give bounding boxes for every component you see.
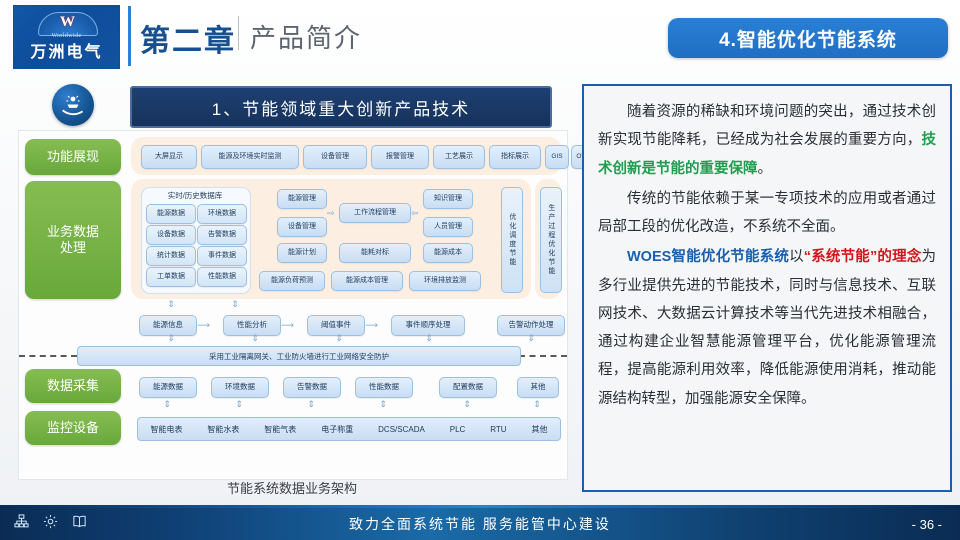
arrow-up-icon-1: ⇕ (231, 299, 239, 310)
acq-box-3[interactable]: 性能数据 (355, 377, 413, 398)
topic-badge: 4.智能优化节能系统 (668, 18, 948, 58)
device-1[interactable]: 智能水表 (207, 424, 239, 435)
db-cell-3[interactable]: 告警数据 (197, 225, 247, 245)
architecture-diagram: 功能展现 业务数据处理 数据采集 监控设备 大屏显示 能源及环境实时监测 设备管… (18, 130, 568, 480)
layer-label-1: 业务数据处理 (25, 181, 121, 299)
presentation-box-1[interactable]: 能源及环境实时监测 (201, 145, 299, 169)
arrow-sec-icon-3: ⇕ (425, 333, 433, 344)
flow-arrow-1-icon: ⟶ (281, 320, 305, 328)
device-0[interactable]: 智能电表 (150, 424, 182, 435)
security-dash-left (19, 355, 77, 357)
mgmt-row3-1[interactable]: 能源成本管理 (331, 271, 403, 291)
arrow-acq-icon-1: ⇕ (235, 399, 243, 410)
acq-box-1[interactable]: 环境数据 (211, 377, 269, 398)
mgmt-workflow[interactable]: 工作流程管理 (339, 203, 411, 223)
device-5[interactable]: PLC (450, 425, 466, 434)
device-2[interactable]: 智能气表 (264, 424, 296, 435)
section-title: 1、节能领域重大创新产品技术 (52, 84, 552, 126)
header-separator (238, 16, 239, 50)
topic-badge-label: 4.智能优化节能系统 (719, 25, 897, 52)
presentation-box-3[interactable]: 报警管理 (371, 145, 429, 169)
section-title-label: 1、节能领域重大创新产品技术 (212, 95, 470, 120)
vertical-box-1[interactable]: 生产过程优化节能 (540, 187, 562, 293)
chapter-subtitle: 产品简介 (250, 18, 362, 55)
p3-text-b: 为多行业提供先进的节能技术，同时与信息技术、互联网技术、大数据云计算技术等当代先… (598, 249, 936, 406)
mgmt-row2-1[interactable]: 能耗对标 (339, 243, 411, 263)
vertical-box-0[interactable]: 优化调度节能 (501, 187, 523, 293)
mgmt-row2-0[interactable]: 能源计划 (277, 243, 327, 263)
presentation-box-2[interactable]: 设备管理 (303, 145, 367, 169)
device-7[interactable]: 其他 (531, 424, 547, 435)
flow-arrow-0-icon: ⟶ (197, 320, 221, 328)
header-divider (128, 6, 131, 66)
mgmt-row3-2[interactable]: 环境排放监测 (409, 271, 481, 291)
db-cell-5[interactable]: 事件数据 (197, 246, 247, 266)
slide-header: W Worldwide 万洲电气 第二章 产品简介 4.智能优化节能系统 (0, 0, 960, 76)
p1-text-b: 。 (758, 161, 773, 177)
device-4[interactable]: DCS/SCADA (378, 425, 425, 434)
arrow-acq-icon-5: ⇕ (533, 399, 541, 410)
arrow-sec-icon-0: ⇕ (167, 333, 175, 344)
mgmt-energy[interactable]: 能源管理 (277, 189, 327, 209)
db-cell-4[interactable]: 统计数据 (146, 246, 196, 266)
mgmt-personnel[interactable]: 人员管理 (423, 217, 473, 237)
company-logo: W Worldwide 万洲电气 (14, 6, 119, 68)
mgmt-equipment[interactable]: 设备管理 (277, 217, 327, 237)
chapter-title: 第二章 (140, 16, 236, 60)
section-title-bar: 1、节能领域重大创新产品技术 (130, 86, 552, 128)
db-cell-0[interactable]: 能源数据 (146, 204, 196, 224)
flow-arrow-2-icon: ⟶ (365, 320, 389, 328)
db-cell-6[interactable]: 工单数据 (146, 267, 196, 287)
db-cell-1[interactable]: 环境数据 (197, 204, 247, 224)
mgmt-row3-0[interactable]: 能源负荷预测 (259, 271, 325, 291)
logo-mark-letter: W (39, 14, 97, 31)
acq-box-5[interactable]: 其他 (517, 377, 559, 398)
security-bar: 采用工业隔离网关、工业防火墙进行工业网络安全防护 (77, 346, 521, 366)
arrow-right-icon: ⇨ (327, 208, 339, 216)
acq-box-2[interactable]: 告警数据 (283, 377, 341, 398)
description-panel: 随着资源的稀缺和环境问题的突出，通过技术创新实现节能降耗，已经成为社会发展的重要… (582, 84, 952, 492)
arrow-sec-icon-4: ⇕ (527, 333, 535, 344)
arrow-sec-icon-1: ⇕ (251, 333, 259, 344)
panel-paragraph-2: 传统的节能依赖于某一专项技术的应用或者通过局部工段的优化改造，不系统不全面。 (598, 185, 936, 242)
panel-paragraph-1: 随着资源的稀缺和环境问题的突出，通过技术创新实现节能降耗，已经成为社会发展的重要… (598, 98, 936, 183)
page-number: - 36 - (912, 508, 942, 540)
footer-slogan: 致力全面系统节能 服务能管中心建设 (0, 508, 960, 540)
p1-text-a: 随着资源的稀缺和环境问题的突出，通过技术创新实现节能降耗，已经成为社会发展的重要… (598, 104, 936, 148)
p3-text-a: 以 (789, 249, 804, 265)
presentation-box-0[interactable]: 大屏显示 (141, 145, 197, 169)
db-cell-2[interactable]: 设备数据 (146, 225, 196, 245)
logo-company-name: 万洲电气 (14, 38, 119, 62)
presentation-box-6[interactable]: GIS (545, 145, 569, 169)
arrow-acq-icon-0: ⇕ (163, 399, 171, 410)
acq-box-0[interactable]: 能源数据 (139, 377, 197, 398)
device-6[interactable]: RTU (490, 425, 506, 434)
layer-label-3: 监控设备 (25, 411, 121, 445)
arrow-acq-icon-3: ⇕ (379, 399, 387, 410)
slide: W Worldwide 万洲电气 第二章 产品简介 4.智能优化节能系统 (0, 0, 960, 540)
acq-box-4[interactable]: 配置数据 (439, 377, 497, 398)
database-title: 实时/历史数据库 (141, 190, 249, 201)
arrow-sec-icon-2: ⇕ (335, 333, 343, 344)
layer-label-0: 功能展现 (25, 139, 121, 175)
layer-label-2: 数据采集 (25, 369, 121, 403)
arrow-acq-icon-4: ⇕ (463, 399, 471, 410)
mgmt-row2-2[interactable]: 能源成本 (423, 243, 473, 263)
db-cell-7[interactable]: 性能数据 (197, 267, 247, 287)
diagram-caption: 节能系统数据业务架构 (18, 478, 566, 497)
arrow-left-icon: ⇦ (411, 208, 423, 216)
arrow-up-icon-0: ⇕ (167, 299, 175, 310)
slide-footer: 致力全面系统节能 服务能管中心建设 - 36 - (0, 508, 960, 540)
energy-hand-icon (52, 84, 94, 126)
mgmt-knowledge[interactable]: 知识管理 (423, 189, 473, 209)
p3-highlight-blue: WOES智能优化节能系统 (627, 249, 789, 265)
arrow-acq-icon-2: ⇕ (307, 399, 315, 410)
device-bar: 智能电表 智能水表 智能气表 电子称重 DCS/SCADA PLC RTU 其他 (137, 417, 561, 441)
presentation-box-4[interactable]: 工艺展示 (433, 145, 485, 169)
panel-paragraph-3: WOES智能优化节能系统以“系统节能”的理念为多行业提供先进的节能技术，同时与信… (598, 243, 936, 413)
p3-highlight-red: “系统节能”的理念 (804, 249, 922, 265)
presentation-box-5[interactable]: 指标展示 (489, 145, 541, 169)
security-dash-right (519, 355, 567, 357)
device-3[interactable]: 电子称重 (321, 424, 353, 435)
